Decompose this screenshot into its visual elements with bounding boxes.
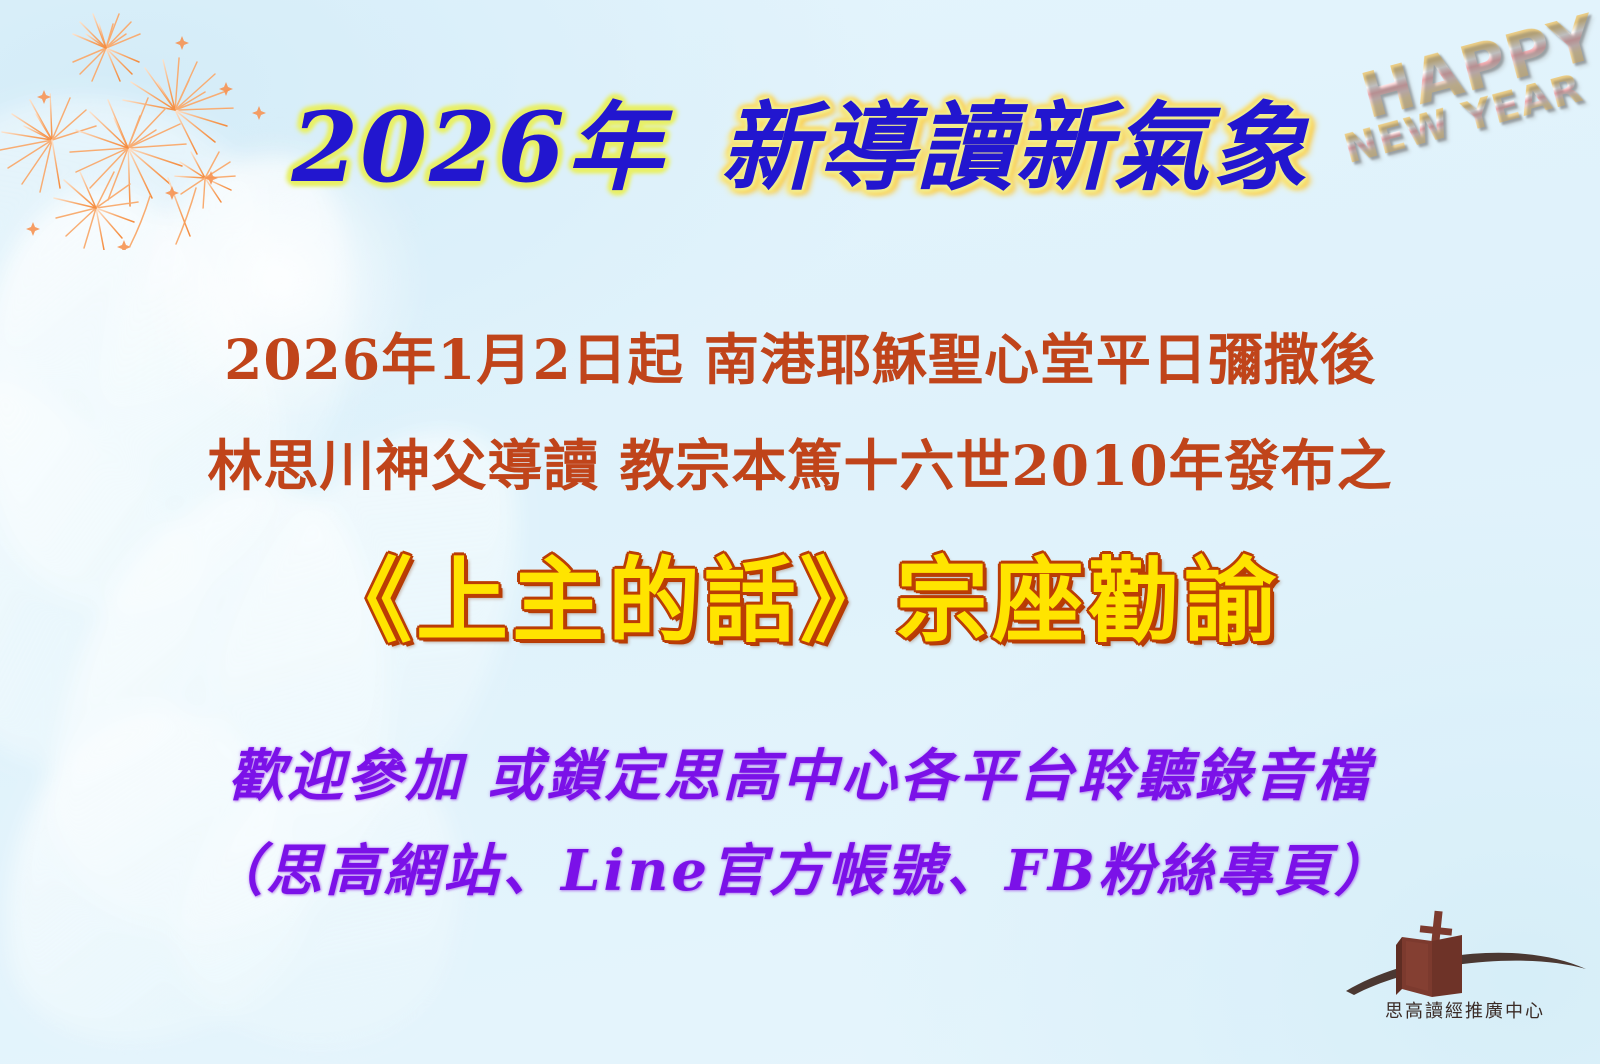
open-book-icon — [1396, 935, 1462, 997]
title-year: 2026年 — [291, 91, 664, 204]
document-headline: 《上主的話》宗座勸諭 — [0, 556, 1600, 648]
event-info-line-2: 林思川神父導讀 教宗本篤十六世2010年發布之 — [193, 436, 1406, 502]
organization-logo: 思高讀經推廣中心 — [1340, 905, 1590, 1040]
logo-caption: 思高讀經推廣中心 — [1340, 997, 1590, 1023]
notes-line-1: 歡迎參加 或鎖定思高中心各平台聆聽錄音檔 — [0, 748, 1600, 805]
title-slogan: 新導讀新氣象 — [721, 91, 1309, 204]
headline-text: 《上主的話》宗座勸諭 — [320, 548, 1280, 655]
event-info-line-1: 2026年1月2日起 南港耶穌聖心堂平日彌撒後 — [210, 330, 1390, 396]
page-title: 2026年新導讀新氣象 — [0, 100, 1600, 196]
swoosh-icon — [1346, 953, 1586, 995]
participation-notes: 歡迎參加 或鎖定思高中心各平台聆聽錄音檔 （思高網站、Line官方帳號、FB粉絲… — [0, 748, 1600, 900]
logo-mark-icon — [1340, 905, 1590, 1005]
event-info: 2026年1月2日起 南港耶穌聖心堂平日彌撒後 林思川神父導讀 教宗本篤十六世2… — [0, 330, 1600, 502]
poster-canvas: HAPPY NEW YEAR 2026年新導讀新氣象 2026年1月2日起 南港… — [0, 0, 1600, 1064]
notes-line-2: （思高網站、Line官方帳號、FB粉絲專頁） — [0, 843, 1600, 900]
